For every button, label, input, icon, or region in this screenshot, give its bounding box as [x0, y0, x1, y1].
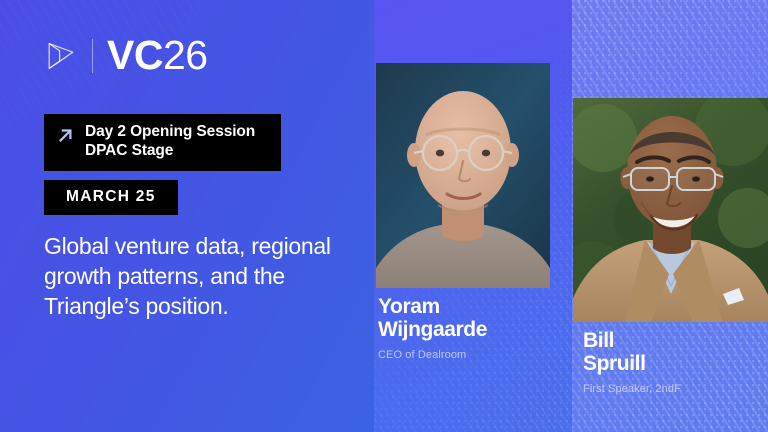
- speaker-name-line-1: Bill: [583, 330, 768, 353]
- session-line-2: DPAC Stage: [85, 142, 255, 161]
- speaker-name-line-1: Yoram: [378, 296, 568, 319]
- wordmark: VC26: [107, 35, 208, 76]
- speaker-name-line-2: Spruill: [583, 353, 768, 376]
- speaker-photo-bill: [573, 98, 768, 322]
- session-label-text: Day 2 Opening Session DPAC Stage: [85, 123, 255, 161]
- speaker-photo-yoram: [376, 63, 550, 288]
- speaker-caption-bill: Bill Spruill First Speaker, 2ndF: [583, 330, 768, 395]
- session-line-1: Day 2 Opening Session: [85, 123, 255, 142]
- event-promo-slide: VC26 Day 2 Opening Session DPAC Stage MA…: [0, 0, 768, 432]
- wordmark-bold: VC: [107, 32, 163, 78]
- speaker-name: Yoram Wijngaarde: [378, 296, 568, 342]
- date-label-box: MARCH 25: [44, 180, 178, 215]
- speaker-role: CEO of Dealroom: [378, 349, 568, 361]
- portrait-illustration-bill: [573, 98, 768, 322]
- speaker-name: Bill Spruill: [583, 330, 768, 376]
- wordmark-light: 26: [163, 32, 208, 78]
- play-triangle-outline-icon: [44, 39, 78, 73]
- logo-divider: [92, 39, 93, 73]
- speaker-caption-yoram: Yoram Wijngaarde CEO of Dealroom: [378, 296, 568, 361]
- speaker-role: First Speaker, 2ndF: [583, 383, 768, 395]
- portrait-illustration-yoram: [376, 63, 550, 288]
- session-label-box: Day 2 Opening Session DPAC Stage: [44, 114, 281, 171]
- arrow-up-right-icon: [57, 127, 74, 144]
- date-label-text: MARCH 25: [66, 188, 156, 206]
- brand-lockup: VC26: [44, 35, 208, 76]
- speaker-name-line-2: Wijngaarde: [378, 319, 568, 342]
- headline-text: Global venture data, regional growth pat…: [44, 232, 344, 322]
